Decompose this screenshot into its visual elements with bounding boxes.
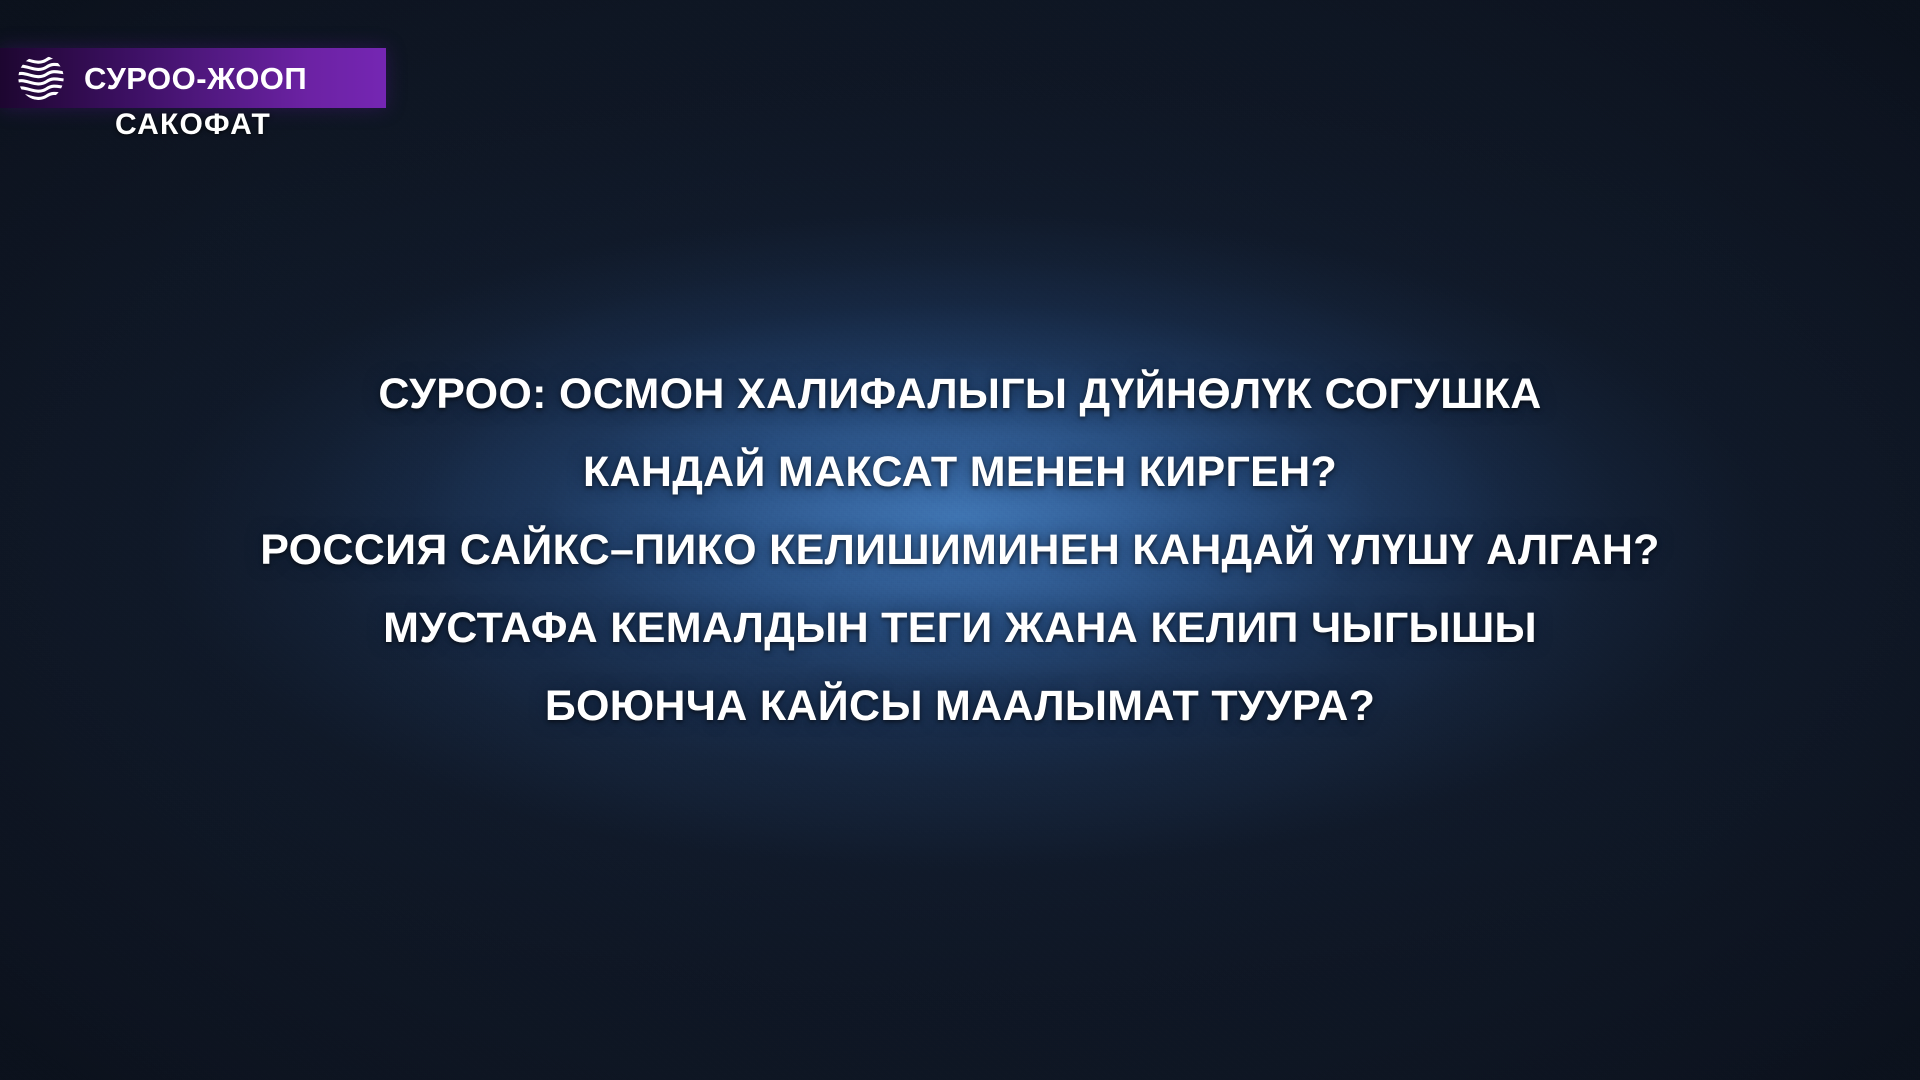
- question-line-5: БОЮНЧА КАЙСЫ МААЛЫМАТ ТУУРА?: [0, 667, 1920, 745]
- question-text-block: СУРОО: ОСМОН ХАЛИФАЛЫГЫ ДҮЙНӨЛҮК СОГУШКА…: [0, 355, 1920, 745]
- question-line-4: МУСТАФА КЕМАЛДЫН ТЕГИ ЖАНА КЕЛИП ЧЫГЫШЫ: [0, 589, 1920, 667]
- striped-globe-icon: [12, 49, 70, 107]
- question-line-2: КАНДАЙ МАКСАТ МЕНЕН КИРГЕН?: [0, 433, 1920, 511]
- channel-wordmark: СУРОО-ЖООП: [84, 63, 307, 94]
- question-line-3: РОССИЯ САЙКС–ПИКО КЕЛИШИМИНЕН КАНДАЙ ҮЛҮ…: [0, 511, 1920, 589]
- question-line-1: СУРОО: ОСМОН ХАЛИФАЛЫГЫ ДҮЙНӨЛҮК СОГУШКА: [0, 355, 1920, 433]
- channel-subtitle: САКОФАТ: [0, 110, 386, 140]
- broadcast-slide: СУРОО-ЖООП САКОФАТ СУРОО: ОСМОН ХАЛИФАЛЫ…: [0, 0, 1920, 1080]
- channel-logo-banner: СУРОО-ЖООП: [0, 48, 386, 108]
